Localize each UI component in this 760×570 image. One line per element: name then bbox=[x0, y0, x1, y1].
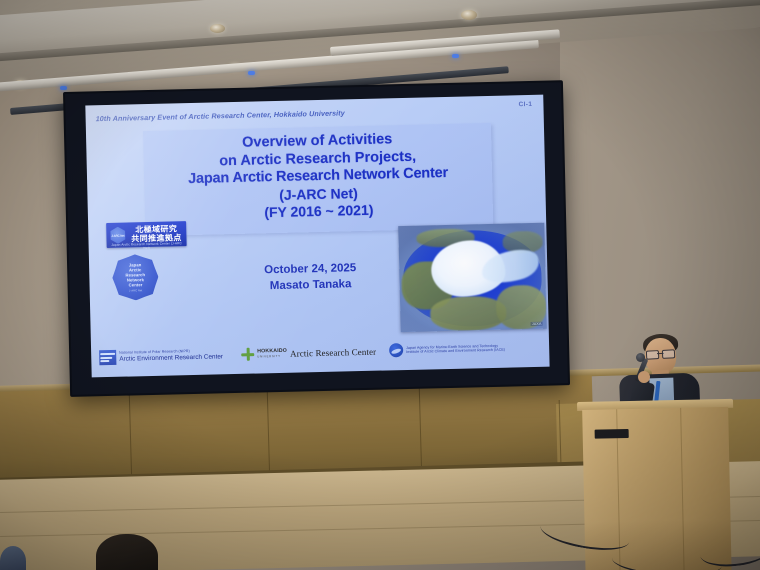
indicator-led bbox=[452, 54, 459, 58]
badge-year-label: J-ARC Net bbox=[129, 289, 142, 292]
hokkaido-logo-group: HOKKAIDO UNIVERSITY Arctic Research Cent… bbox=[241, 345, 376, 361]
nipr-logo-group: National Institute of Polar Research (NI… bbox=[99, 347, 223, 365]
hokkaido-line-2: UNIVERSITY bbox=[257, 354, 287, 359]
hokkaido-arc-label: Arctic Research Center bbox=[290, 346, 376, 358]
projection-screen-frame: 10th Anniversary Event of Arctic Researc… bbox=[63, 80, 570, 397]
nipr-line-2: Arctic Environment Research Center bbox=[119, 353, 223, 363]
presentation-slide: 10th Anniversary Event of Arctic Researc… bbox=[85, 95, 549, 378]
microphone-head-icon bbox=[636, 353, 645, 362]
slide-presenter: Masato Tanaka bbox=[225, 276, 395, 296]
lecture-hall-scene: 10th Anniversary Event of Arctic Researc… bbox=[0, 0, 760, 570]
ceiling-downlight bbox=[210, 24, 225, 33]
globe-atmosphere-halo bbox=[398, 223, 546, 332]
slide-date-presenter-block: October 24, 2025 Masato Tanaka bbox=[225, 260, 396, 295]
jamstec-line-2: Institute of Arctic Climate and Environm… bbox=[406, 348, 505, 355]
podium-nameplate bbox=[595, 429, 629, 439]
jarc-banner-subtitle: Japan Arctic Research Network Center (J-… bbox=[109, 241, 185, 251]
slide-page-marker: CI-1 bbox=[518, 101, 532, 108]
eyeglasses-icon bbox=[646, 349, 675, 358]
speaker-hand bbox=[638, 371, 650, 383]
jarc-net-round-badge: Japan Arctic Research Network Center J-A… bbox=[112, 254, 159, 301]
nipr-mark-icon bbox=[99, 350, 116, 365]
indicator-led bbox=[60, 86, 67, 90]
jamstec-logo-group: Japan Agency for Marine-Earth Science an… bbox=[389, 341, 505, 358]
arctic-sea-ice-globe-image: JAXA bbox=[398, 223, 546, 332]
jarc-hexagon-icon: J-ARC Net bbox=[109, 227, 126, 244]
slide-title-box: Overview of Activities on Arctic Researc… bbox=[143, 123, 493, 236]
audience-member-head bbox=[96, 534, 158, 570]
slide-header-text: 10th Anniversary Event of Arctic Researc… bbox=[96, 108, 345, 123]
slide-footer-logo-row: National Institute of Polar Research (NI… bbox=[99, 338, 543, 370]
ceiling-downlight bbox=[461, 10, 477, 20]
jarc-hex-label: J-ARC Net bbox=[111, 233, 124, 237]
jamstec-mark-icon bbox=[389, 343, 403, 357]
image-credit-label: JAXA bbox=[531, 322, 543, 326]
badge-line-5: Center bbox=[129, 283, 143, 288]
audience-member-shoulder bbox=[0, 546, 26, 570]
indicator-led bbox=[248, 71, 255, 75]
hokkaido-crest-icon bbox=[241, 348, 254, 361]
